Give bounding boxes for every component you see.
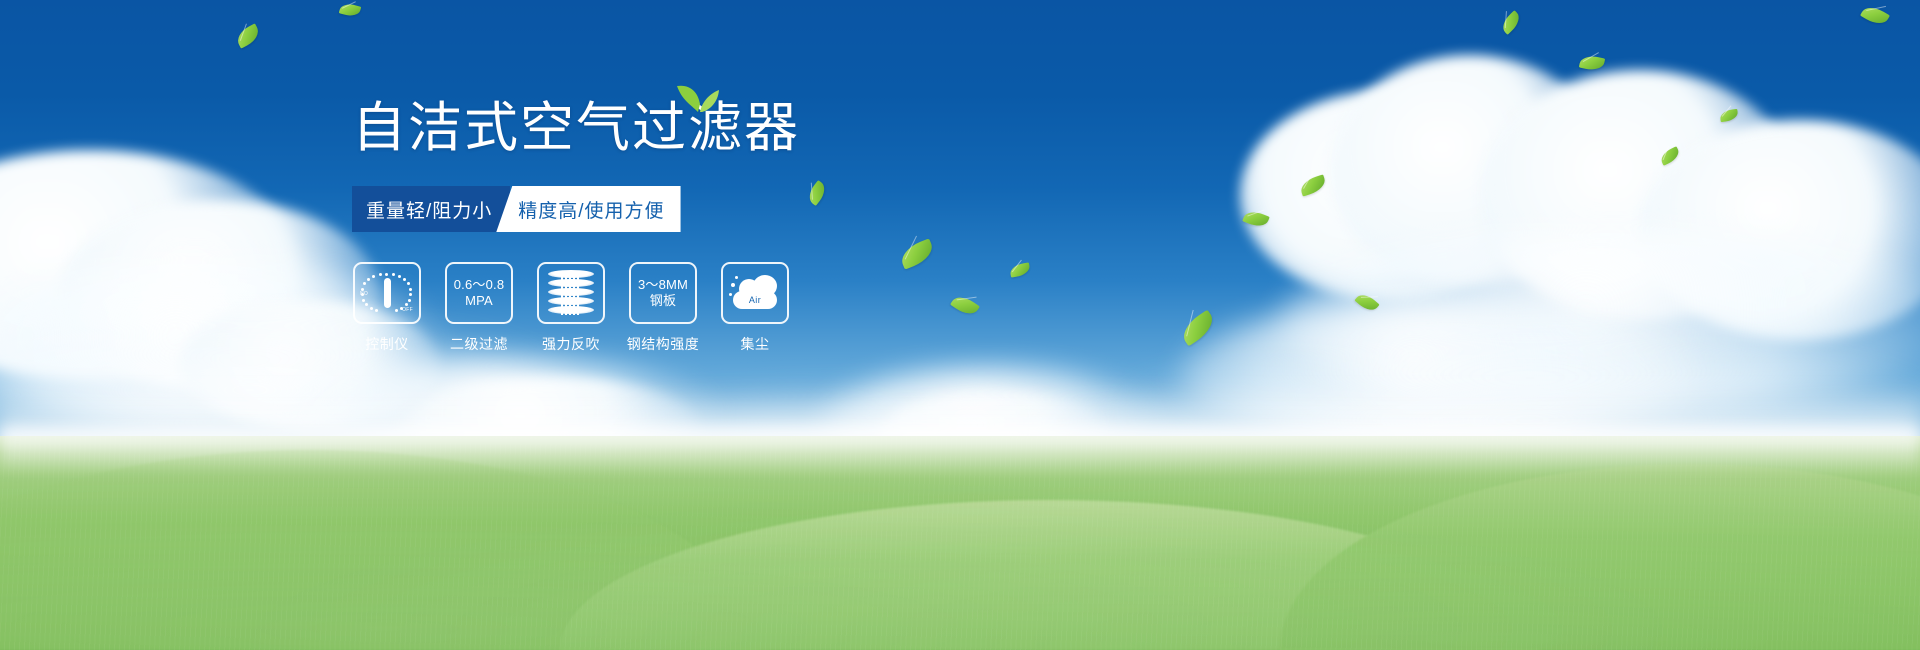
filter-stack-icon (548, 269, 594, 317)
feature-item-backblow[interactable]: 强力反吹 (536, 262, 606, 354)
feature-item-controller[interactable]: NO OFF 控制仪 (352, 262, 422, 354)
feature-label: 集尘 (741, 334, 770, 354)
air-cloud-icon: Air (729, 273, 781, 313)
feature-label: 钢结构强度 (627, 334, 700, 354)
air-label: Air (729, 295, 781, 305)
feature-label: 强力反吹 (542, 334, 600, 354)
tagline-pill-2[interactable]: 精度高/使用方便 (496, 186, 680, 232)
feature-item-pressure[interactable]: 0.6～0.8 MPA 二级过滤 (444, 262, 514, 354)
leaf-decoration-icon (676, 82, 720, 112)
product-hero-banner: 自洁式空气过滤器 重量轻/阻力小 精度高/使用方便 (0, 0, 1920, 650)
steel-plate-text-icon: 3～8MM 钢板 (638, 277, 688, 309)
tagline-group: 重量轻/阻力小 精度高/使用方便 (352, 186, 674, 232)
feature-icon-box: Air (721, 262, 789, 324)
feature-icon-box: NO OFF (353, 262, 421, 324)
feature-icon-box: 3～8MM 钢板 (629, 262, 697, 324)
gauge-label-no: NO (360, 291, 368, 297)
feature-label: 控制仪 (365, 334, 409, 354)
gauge-needle (384, 278, 391, 308)
banner-content: 自洁式空气过滤器 重量轻/阻力小 精度高/使用方便 (352, 96, 972, 354)
grass-horizon-haze (0, 428, 1920, 474)
title-wrap: 自洁式空气过滤器 (352, 96, 972, 170)
hill-left (0, 450, 760, 650)
tagline-pill-1-label: 重量轻/阻力小 (366, 196, 492, 223)
feature-list: NO OFF 控制仪 0.6～0.8 MPA 二级过滤 (352, 262, 972, 354)
feature-icon-box: 0.6～0.8 MPA (445, 262, 513, 324)
feature-icon-box (537, 262, 605, 324)
hill-right (1280, 464, 1920, 650)
feature-item-steel[interactable]: 3～8MM 钢板 钢结构强度 (628, 262, 698, 354)
pressure-text-icon: 0.6～0.8 MPA (454, 277, 505, 309)
hill-center (560, 500, 1540, 650)
feature-item-dust[interactable]: Air 集尘 (720, 262, 790, 354)
page-title: 自洁式空气过滤器 (352, 96, 972, 160)
feature-label: 二级过滤 (450, 334, 508, 354)
tagline-pill-1[interactable]: 重量轻/阻力小 (352, 186, 510, 232)
gauge-label-off: OFF (402, 307, 413, 313)
gauge-dial-icon: NO OFF (360, 269, 414, 317)
tagline-pill-2-label: 精度高/使用方便 (518, 196, 664, 223)
